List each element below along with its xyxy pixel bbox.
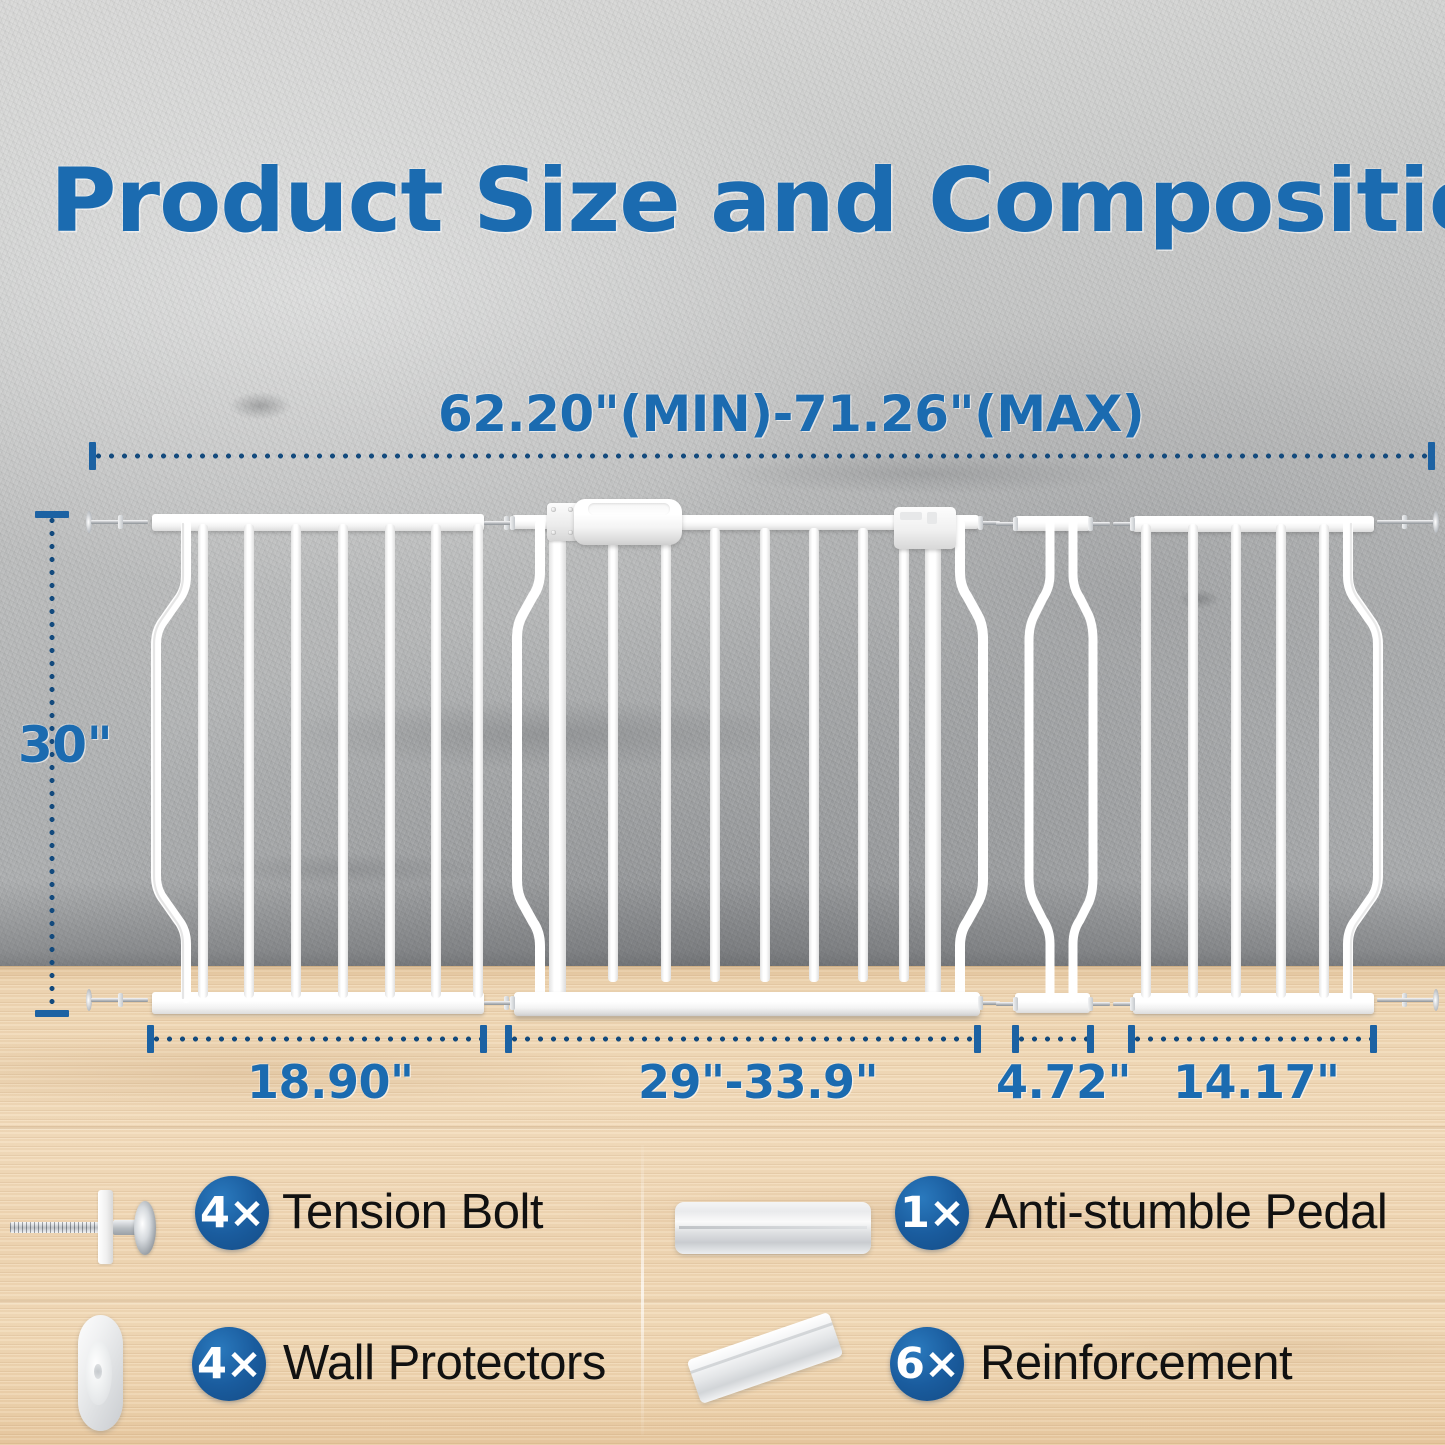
right-panel-bar-3 [1231, 524, 1241, 998]
part-label-reinforcement: Reinforcement [980, 1335, 1292, 1391]
wall-protector-icon [78, 1315, 123, 1431]
floor-plank-seam-2 [0, 1300, 1445, 1304]
left-panel-bar-4 [338, 524, 348, 998]
tension-bolt-icon [10, 1190, 185, 1264]
part-count-text: 6× [895, 1343, 959, 1386]
tension-bolt-gate-bottom-left [492, 996, 516, 1010]
tension-bolt-small-top-right [1088, 517, 1110, 531]
bolt-head [1088, 997, 1093, 1011]
tension-bolt-top-left [86, 515, 150, 529]
dim-cap-bottom [35, 1010, 69, 1017]
left-panel-bar-3 [291, 524, 301, 998]
part-row-wall-protectors: 4× Wall Protectors [0, 1305, 641, 1440]
part-count-multiplier: × [226, 1339, 261, 1389]
gate-door-bar-2 [661, 530, 671, 982]
bolt-head [1130, 997, 1135, 1011]
bolt-shaft-2 [123, 520, 148, 524]
left-panel-bar-5 [385, 524, 395, 998]
bolt-shaft-2 [1394, 998, 1434, 1002]
bolt-head [978, 996, 983, 1010]
gate-handle-grip-groove [588, 503, 670, 515]
bracket-screw-bottom-right [568, 530, 573, 535]
tension-bolt-bottom-left [86, 993, 150, 1007]
gate-door-bar-1 [608, 534, 618, 982]
part-count-text: 4× [200, 1192, 264, 1235]
gate-door-bar-6 [858, 528, 868, 982]
gate-latch-notch [900, 512, 922, 520]
bolt-head [1088, 517, 1093, 531]
part-count-badge: 1× [895, 1176, 969, 1250]
part-count-text: 4× [197, 1343, 261, 1386]
part-count-badge: 6× [890, 1327, 964, 1401]
concrete-wall-background [0, 0, 1445, 966]
right-panel-bar-2 [1188, 524, 1198, 998]
part-label-tension-bolt: Tension Bolt [282, 1184, 543, 1240]
part-count-badge: 4× [192, 1327, 266, 1401]
tension-bolt-small-top-left [996, 517, 1018, 531]
bolt-head [978, 516, 983, 530]
part-count-multiplier: × [924, 1339, 959, 1389]
part-label-anti-stumble-pedal: Anti-stumble Pedal [985, 1184, 1387, 1240]
floor-plank-seam-1 [0, 1126, 1445, 1130]
dim-cap-right [1428, 442, 1435, 470]
tension-bolt-right-bottom-inner [1113, 997, 1135, 1011]
bolt-disc [1433, 989, 1439, 1011]
left-panel-bar-7 [473, 524, 483, 998]
small-panel-curved-bar-left [1026, 524, 1060, 998]
bracket-screw-top-left [551, 507, 556, 512]
anti-stumble-pedal-icon [675, 1202, 871, 1254]
height-label: 30" [18, 716, 112, 774]
dim-cap-left [1012, 1025, 1019, 1053]
bolt-metal-disc [134, 1201, 156, 1255]
dim-cap-right [1370, 1025, 1377, 1053]
parts-list-vertical-divider [641, 1145, 644, 1435]
bolt-shaft [492, 521, 512, 525]
dim-cap-left [147, 1025, 154, 1053]
dim-cap-right [480, 1025, 487, 1053]
small-extension-dimension-line [1015, 1036, 1091, 1042]
bolt-shaft [492, 1001, 512, 1005]
part-count-multiplier: × [929, 1188, 964, 1238]
bolt-shaft [1091, 1002, 1110, 1006]
right-extension-dimension-line [1131, 1036, 1374, 1042]
bolt-head [510, 996, 515, 1010]
gate-door-hinge-post [549, 530, 566, 998]
bolt-head [510, 516, 515, 530]
reinforcement-icon [687, 1312, 844, 1404]
tension-bolt-right-top-inner [1113, 517, 1135, 531]
wall-floor-shadow [0, 880, 1445, 966]
page-title: Product Size and Composition [50, 155, 1445, 247]
part-count-number: 4 [200, 1188, 229, 1238]
dim-cap-right [974, 1025, 981, 1053]
gate-door-bar-3 [710, 528, 720, 982]
total-width-label: 62.20"(MIN)-71.26"(MAX) [438, 385, 1144, 443]
bolt-head [1013, 517, 1018, 531]
bolt-shaft-2 [1394, 520, 1434, 524]
left-panel-bar-6 [431, 524, 441, 998]
right-panel-bar-4 [1276, 524, 1286, 998]
dim-cap-left [505, 1025, 512, 1053]
gate-door-dimension-line [508, 1036, 978, 1042]
gate-frame-right-curved-stile [950, 524, 988, 998]
bolt-head [1013, 997, 1018, 1011]
left-panel-curved-edge-bar [150, 524, 196, 998]
part-label-wall-protectors: Wall Protectors [283, 1335, 606, 1391]
right-extension-width-label: 14.17" [1173, 1055, 1339, 1109]
dim-cap-right [1087, 1025, 1094, 1053]
tension-bolt-bottom-right-outer [1375, 993, 1439, 1007]
right-panel-bar-1 [1141, 524, 1151, 998]
dim-cap-top [35, 511, 69, 518]
left-extension-width-label: 18.90" [247, 1055, 413, 1109]
gate-latch-notch-2 [927, 512, 937, 524]
bolt-disc [1433, 511, 1439, 533]
bracket-screw-top-right [568, 507, 573, 512]
gate-door-bar-4 [760, 528, 770, 982]
bolt-shaft [1091, 522, 1110, 526]
part-count-badge: 4× [195, 1176, 269, 1250]
infographic-canvas: Product Size and Composition 62.20"(MIN)… [0, 0, 1445, 1445]
left-panel-bar-2 [244, 524, 254, 998]
part-count-text: 1× [900, 1192, 964, 1235]
part-count-number: 1 [900, 1188, 929, 1238]
part-count-number: 4 [197, 1339, 226, 1389]
dim-cap-left [1128, 1025, 1135, 1053]
dim-cap-left [89, 442, 96, 470]
part-row-tension-bolt: 4× Tension Bolt [0, 1162, 641, 1292]
gate-door-width-label: 29"-33.9" [638, 1055, 878, 1109]
bolt-white-plate [98, 1190, 113, 1264]
gate-frame-left-curved-stile [512, 524, 550, 998]
left-extension-dimension-line [150, 1036, 484, 1042]
part-row-anti-stumble-pedal: 1× Anti-stumble Pedal [660, 1162, 1445, 1292]
bracket-screw-bottom-left [551, 530, 556, 535]
gate-door-latch-post [925, 540, 941, 998]
gate-door-bar-5 [809, 528, 819, 982]
bolt-shaft-2 [123, 998, 148, 1002]
total-width-dimension-line [92, 453, 1432, 459]
bolt-head [1130, 517, 1135, 531]
tension-bolt-small-bottom-right [1088, 997, 1110, 1011]
gate-door-bar-7 [899, 528, 909, 982]
tension-bolt-gate-top-left [492, 516, 516, 530]
part-row-reinforcement: 6× Reinforcement [660, 1305, 1445, 1440]
tension-bolt-small-bottom-left [996, 997, 1018, 1011]
anti-stumble-pedal-bar [514, 992, 980, 1016]
right-panel-curved-edge-bar [1338, 524, 1384, 998]
part-count-multiplier: × [229, 1188, 264, 1238]
small-panel-curved-bar-right [1062, 524, 1096, 998]
left-panel-bar-1 [198, 524, 208, 998]
right-panel-bar-5 [1319, 524, 1329, 998]
tension-bolt-top-right-outer [1375, 515, 1439, 529]
part-count-number: 6 [895, 1339, 924, 1389]
small-extension-width-label: 4.72" [996, 1055, 1131, 1109]
